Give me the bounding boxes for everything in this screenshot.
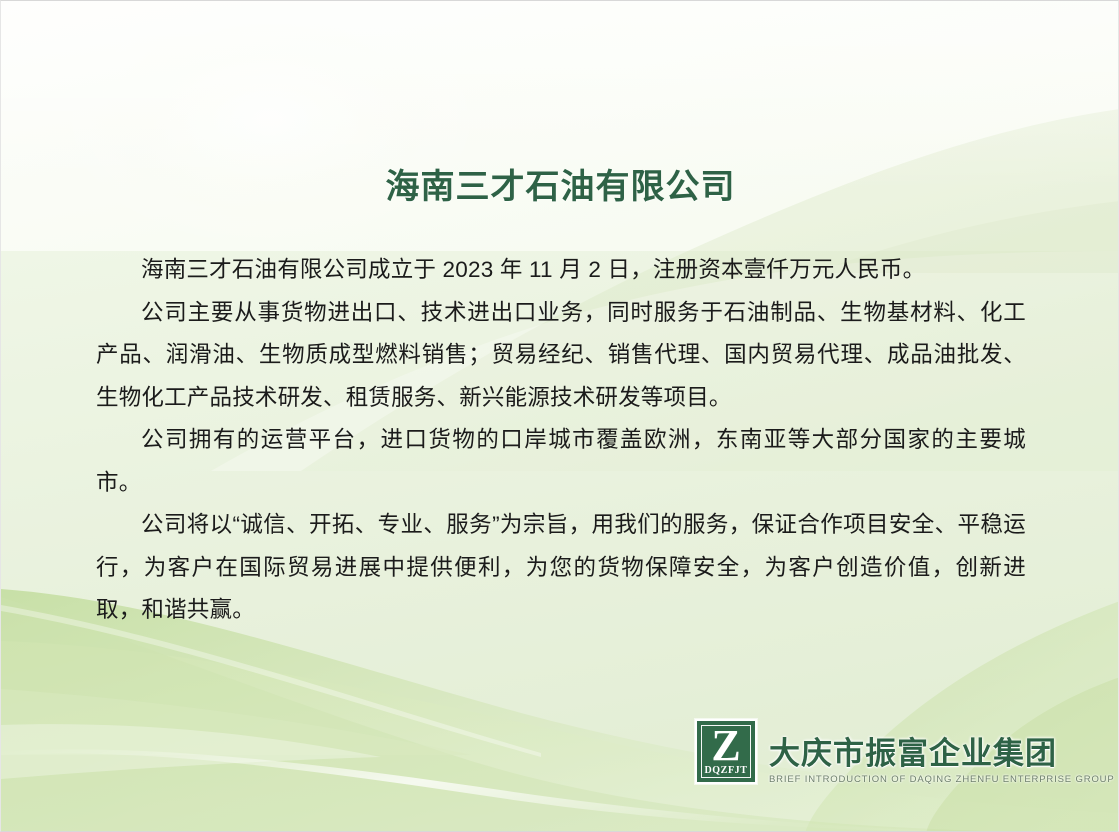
paragraph-1: 海南三才石油有限公司成立于 2023 年 11 月 2 日，注册资本壹仟万元人民…	[96, 249, 1026, 292]
paragraph-4: 公司将以“诚信、开拓、专业、服务”为宗旨，用我们的服务，保证合作项目安全、平稳运…	[96, 504, 1026, 632]
page-title: 海南三才石油有限公司	[1, 159, 1119, 208]
logo-text-block: 大庆市振富企业集团 BRIEF INTRODUCTION OF DAQING Z…	[769, 719, 1115, 786]
company-logo: Z DQZFJT 大庆市振富企业集团 BRIEF INTRODUCTION OF…	[695, 719, 1115, 786]
logo-letter-z: Z	[697, 724, 755, 768]
logo-mark-icon: Z DQZFJT	[695, 719, 757, 784]
slide-canvas: 海南三才石油有限公司 海南三才石油有限公司成立于 2023 年 11 月 2 日…	[0, 0, 1119, 832]
body-text-block: 海南三才石油有限公司成立于 2023 年 11 月 2 日，注册资本壹仟万元人民…	[96, 249, 1026, 632]
paragraph-3: 公司拥有的运营平台，进口货物的口岸城市覆盖欧洲，东南亚等大部分国家的主要城市。	[96, 419, 1026, 504]
logo-abbreviation: DQZFJT	[697, 765, 755, 776]
paragraph-2: 公司主要从事货物进出口、技术进出口业务，同时服务于石油制品、生物基材料、化工产品…	[96, 292, 1026, 420]
logo-name-english: BRIEF INTRODUCTION OF DAQING ZHENFU ENTE…	[769, 774, 1115, 786]
slide-content: 海南三才石油有限公司 海南三才石油有限公司成立于 2023 年 11 月 2 日…	[1, 1, 1119, 832]
logo-name-chinese: 大庆市振富企业集团	[769, 737, 1115, 771]
